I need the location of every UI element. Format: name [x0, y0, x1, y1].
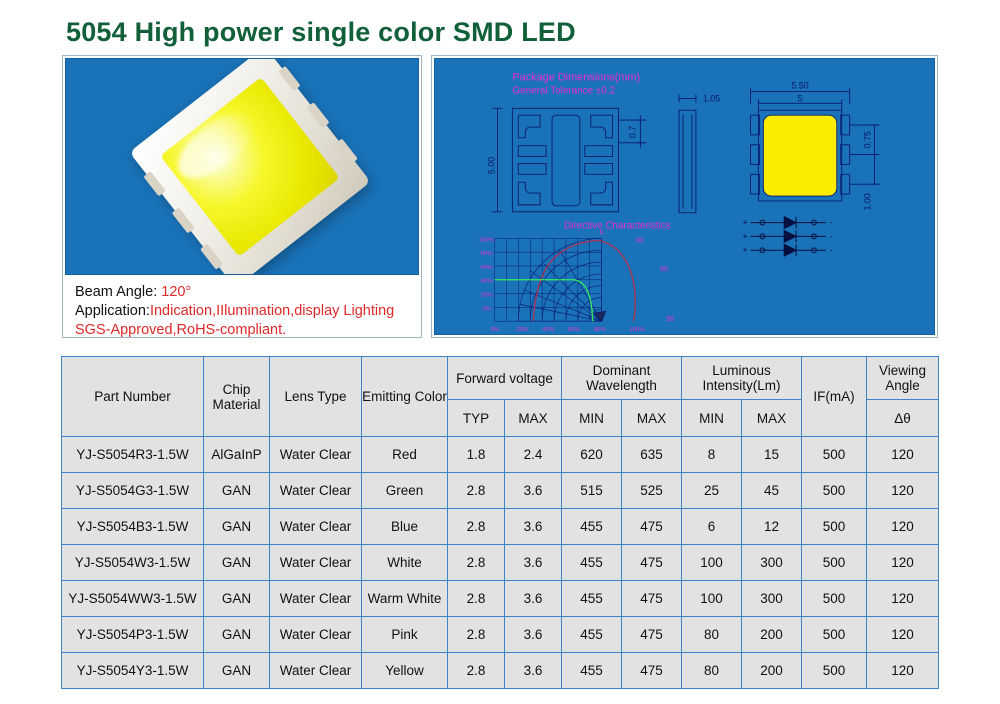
cell-viewing-angle: 120: [867, 545, 939, 581]
polar-angle-tick: 30: [635, 237, 643, 244]
dim-width-inner: 5: [798, 93, 803, 103]
table-row: YJ-S5054P3-1.5WGANWater ClearPink2.83.64…: [62, 617, 939, 653]
cell-if-ma: 500: [802, 545, 867, 581]
polarity-minus: -: [830, 245, 833, 255]
cell-dw-max: 475: [622, 581, 682, 617]
col-forward-voltage: Forward voltage: [448, 357, 562, 400]
cell-if-ma: 500: [802, 437, 867, 473]
cell-chip-material: GAN: [204, 509, 270, 545]
cell-dw-max: 635: [622, 437, 682, 473]
cell-part-number: YJ-S5054WW3-1.5W: [62, 581, 204, 617]
cell-li-min: 6: [682, 509, 742, 545]
polar-chart: 0 30 60 90 100% 80% 60% 40% 20% 0% 0% 20: [479, 229, 674, 334]
cell-fv-max: 3.6: [505, 509, 562, 545]
polarity-plus: +: [743, 218, 748, 228]
col-lens-type: Lens Type: [270, 357, 362, 437]
cell-fv-max: 2.4: [505, 437, 562, 473]
cell-emitting-color: Red: [362, 437, 448, 473]
cell-part-number: YJ-S5054P3-1.5W: [62, 617, 204, 653]
table-row: YJ-S5054B3-1.5WGANWater ClearBlue2.83.64…: [62, 509, 939, 545]
cell-chip-material: AlGaInP: [204, 437, 270, 473]
cell-dw-min: 515: [562, 473, 622, 509]
product-caption: Beam Angle: 120° Application:Indication,…: [63, 277, 421, 340]
cell-part-number: YJ-S5054R3-1.5W: [62, 437, 204, 473]
cell-part-number: YJ-S5054B3-1.5W: [62, 509, 204, 545]
col-angle-symbol: Δθ: [867, 400, 939, 437]
cell-fv-max: 3.6: [505, 545, 562, 581]
cell-fv-max: 3.6: [505, 473, 562, 509]
table-row: YJ-S5054W3-1.5WGANWater ClearWhite2.83.6…: [62, 545, 939, 581]
dim-height-side: 5.00: [486, 157, 496, 174]
polar-x-tick: 40%: [542, 327, 555, 333]
product-photo-panel: Beam Angle: 120° Application:Indication,…: [62, 55, 422, 338]
cell-lens-type: Water Clear: [270, 617, 362, 653]
cell-dw-min: 455: [562, 581, 622, 617]
col-emitting-color: Emitting Color: [362, 357, 448, 437]
led-photo: [65, 58, 419, 275]
cell-emitting-color: Green: [362, 473, 448, 509]
cell-lens-type: Water Clear: [270, 545, 362, 581]
polar-x-tick: 20%: [516, 327, 529, 333]
cell-li-min: 80: [682, 653, 742, 689]
cell-fv-max: 3.6: [505, 653, 562, 689]
polar-y-tick: 0%: [483, 306, 492, 312]
general-tolerance-label: General Tolerance ±0.2: [512, 86, 615, 97]
dim-notch: 0.7: [627, 126, 637, 138]
col-dominant-wavelength: Dominant Wavelength: [562, 357, 682, 400]
cell-dw-max: 525: [622, 473, 682, 509]
cell-emitting-color: Blue: [362, 509, 448, 545]
polar-y-tick: 80%: [481, 251, 494, 257]
table-row: YJ-S5054R3-1.5WAlGaInPWater ClearRed1.82…: [62, 437, 939, 473]
polarity-plus: +: [743, 245, 748, 255]
cell-li-max: 200: [742, 617, 802, 653]
cell-dw-min: 455: [562, 617, 622, 653]
table-row: YJ-S5054Y3-1.5WGANWater ClearYellow2.83.…: [62, 653, 939, 689]
col-dw-min: MIN: [562, 400, 622, 437]
col-chip-material: Chip Material: [204, 357, 270, 437]
col-if-ma: IF(mA): [802, 357, 867, 437]
cell-li-max: 45: [742, 473, 802, 509]
polar-angle-tick: 0: [600, 229, 604, 236]
polar-y-tick: 60%: [481, 265, 494, 271]
cell-li-max: 300: [742, 545, 802, 581]
cell-if-ma: 500: [802, 473, 867, 509]
cell-dw-max: 475: [622, 617, 682, 653]
table-header-row-top: Part Number Chip Material Lens Type Emit…: [62, 357, 939, 400]
cell-lens-type: Water Clear: [270, 581, 362, 617]
polar-x-tick: 100%: [629, 327, 645, 333]
beam-angle-label: Beam Angle:: [75, 284, 157, 300]
package-diagram: Package Dimensions(mm) General Tolerance…: [434, 58, 935, 335]
cell-li-min: 100: [682, 545, 742, 581]
cell-li-max: 200: [742, 653, 802, 689]
cell-li-min: 100: [682, 581, 742, 617]
cell-fv-max: 3.6: [505, 581, 562, 617]
cell-fv-max: 3.6: [505, 617, 562, 653]
polarity-plus: +: [743, 231, 748, 241]
cell-chip-material: GAN: [204, 581, 270, 617]
cell-if-ma: 500: [802, 581, 867, 617]
cell-viewing-angle: 120: [867, 617, 939, 653]
cell-li-max: 12: [742, 509, 802, 545]
cell-li-max: 15: [742, 437, 802, 473]
cell-chip-material: GAN: [204, 545, 270, 581]
cell-fv-typ: 2.8: [448, 653, 505, 689]
application-line: Application:Indication,IIlumination,disp…: [75, 302, 409, 321]
page-title: 5054 High power single color SMD LED: [66, 17, 576, 48]
cell-chip-material: GAN: [204, 653, 270, 689]
cell-dw-min: 455: [562, 509, 622, 545]
cell-emitting-color: Yellow: [362, 653, 448, 689]
polar-x-tick: 80%: [594, 327, 607, 333]
cell-if-ma: 500: [802, 653, 867, 689]
cell-viewing-angle: 120: [867, 653, 939, 689]
table-row: YJ-S5054G3-1.5WGANWater ClearGreen2.83.6…: [62, 473, 939, 509]
cell-viewing-angle: 120: [867, 581, 939, 617]
package-dimensions-title: Package Dimensions(mm): [512, 72, 640, 84]
cell-viewing-angle: 120: [867, 509, 939, 545]
cell-fv-typ: 1.8: [448, 437, 505, 473]
specification-table: Part Number Chip Material Lens Type Emit…: [61, 356, 939, 689]
dim-thickness: 1.05: [703, 93, 720, 103]
cell-fv-typ: 2.8: [448, 473, 505, 509]
col-fv-max: MAX: [505, 400, 562, 437]
cell-emitting-color: Warm White: [362, 581, 448, 617]
cell-chip-material: GAN: [204, 617, 270, 653]
col-dw-max: MAX: [622, 400, 682, 437]
polar-angle-tick: 90: [666, 316, 674, 323]
cell-emitting-color: Pink: [362, 617, 448, 653]
cell-fv-typ: 2.8: [448, 581, 505, 617]
application-label: Application:: [75, 303, 150, 319]
smd-led-package-icon: [129, 58, 370, 275]
cell-chip-material: GAN: [204, 473, 270, 509]
polar-x-tick: 0%: [491, 327, 500, 333]
col-viewing-angle: Viewing Angle: [867, 357, 939, 400]
dim-pad-span: 1.00: [862, 193, 872, 210]
datasheet-page: 5054 High power single color SMD LED Bea…: [0, 0, 1000, 704]
cell-fv-typ: 2.8: [448, 509, 505, 545]
cell-part-number: YJ-S5054Y3-1.5W: [62, 653, 204, 689]
polarity-minus: -: [830, 231, 833, 241]
polar-curve-2: [602, 241, 636, 321]
table-row: YJ-S5054WW3-1.5WGANWater ClearWarm White…: [62, 581, 939, 617]
polar-y-tick: 20%: [481, 293, 494, 299]
package-diagram-svg: Package Dimensions(mm) General Tolerance…: [435, 59, 934, 334]
dim-pad-pitch: 0.75: [862, 131, 872, 148]
cell-dw-max: 475: [622, 653, 682, 689]
directive-characteristics-title: Directive Characteristics: [564, 221, 671, 232]
dim-width-outer: 5.50: [791, 81, 808, 91]
cell-dw-max: 475: [622, 545, 682, 581]
cell-dw-min: 455: [562, 653, 622, 689]
cell-li-min: 80: [682, 617, 742, 653]
cell-lens-type: Water Clear: [270, 473, 362, 509]
cell-li-max: 300: [742, 581, 802, 617]
polarity-minus: -: [830, 218, 833, 228]
cell-if-ma: 500: [802, 509, 867, 545]
col-part-number: Part Number: [62, 357, 204, 437]
cell-lens-type: Water Clear: [270, 653, 362, 689]
polar-x-tick: 60%: [568, 327, 581, 333]
col-li-min: MIN: [682, 400, 742, 437]
cell-li-min: 8: [682, 437, 742, 473]
application-value: Indication,IIlumination,display Lighting: [150, 303, 394, 319]
col-fv-typ: TYP: [448, 400, 505, 437]
package-diagram-panel: Package Dimensions(mm) General Tolerance…: [431, 55, 938, 338]
beam-angle-value: 120°: [161, 284, 191, 300]
cell-emitting-color: White: [362, 545, 448, 581]
table-body: YJ-S5054R3-1.5WAlGaInPWater ClearRed1.82…: [62, 437, 939, 689]
polar-y-tick: 100%: [479, 237, 495, 243]
cell-viewing-angle: 120: [867, 437, 939, 473]
col-luminous-intensity: Luminous Intensity(Lm): [682, 357, 802, 400]
cell-dw-min: 620: [562, 437, 622, 473]
cell-lens-type: Water Clear: [270, 437, 362, 473]
compliance-line: SGS-Approved,RoHS-compliant.: [75, 321, 409, 340]
cell-fv-typ: 2.8: [448, 617, 505, 653]
cell-viewing-angle: 120: [867, 473, 939, 509]
col-li-max: MAX: [742, 400, 802, 437]
cell-fv-typ: 2.8: [448, 545, 505, 581]
cell-dw-max: 475: [622, 509, 682, 545]
cell-part-number: YJ-S5054G3-1.5W: [62, 473, 204, 509]
polar-y-tick: 40%: [481, 279, 494, 285]
polar-angle-tick: 60: [660, 266, 668, 273]
beam-angle-line: Beam Angle: 120°: [75, 283, 409, 302]
cell-lens-type: Water Clear: [270, 509, 362, 545]
cell-li-min: 25: [682, 473, 742, 509]
cell-if-ma: 500: [802, 617, 867, 653]
cell-dw-min: 455: [562, 545, 622, 581]
cell-part-number: YJ-S5054W3-1.5W: [62, 545, 204, 581]
